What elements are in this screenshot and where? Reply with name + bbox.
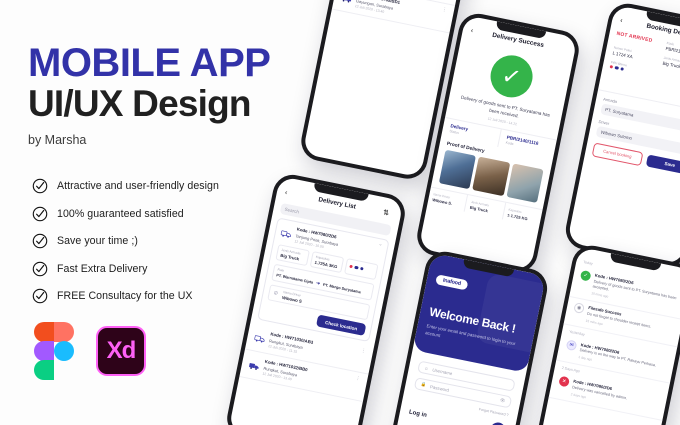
truck-icon [281, 224, 294, 235]
phone-mockup-notifications: Today ✓ Kode : HW7080/2D6 Delivery of go… [526, 242, 680, 425]
cancel-booking-button[interactable]: Cancel booking [592, 142, 643, 166]
proof-photo[interactable] [472, 157, 509, 197]
brand-logo: Inafood [435, 274, 468, 290]
feature-label: Save your time ;) [57, 235, 138, 247]
color-dots-box [344, 258, 379, 280]
phone-mockup-booking-detail: ‹ Booking Detail NOT ARRIVED Kode PBR/21… [562, 0, 680, 270]
check-circle-icon [32, 178, 48, 194]
chevron-left-icon[interactable]: ‹ [284, 189, 288, 196]
username-placeholder: Username [432, 367, 453, 376]
user-icon: ☺ [424, 365, 429, 371]
list-item: Save your time ;) [32, 233, 282, 249]
table-row[interactable]: Kode : HW76785/BD1 Gayungan, Surabaya 12… [332, 0, 455, 33]
page-title: MOBILE APP [28, 44, 288, 83]
vehicle-type-box: Jenis Armada Big Truck [275, 244, 310, 266]
check-circle-icon: ✓ [580, 270, 592, 282]
adobe-xd-icon: Xd [96, 326, 146, 376]
feature-label: Fast Extra Delivery [57, 263, 147, 275]
adobe-xd-label: Xd [107, 337, 136, 365]
phone-mockup-login: Inafood Welcome Back ! Enter your email … [379, 248, 550, 425]
lock-icon: 🔒 [420, 381, 427, 388]
chevron-left-icon[interactable]: ‹ [620, 17, 624, 24]
driver-cell: Nama Driver Wibowo S. [427, 188, 467, 212]
arrow-right-icon: ➜ [315, 280, 320, 287]
truck-icon [254, 329, 267, 340]
message-icon: ✉ [566, 339, 578, 351]
proof-photo[interactable] [506, 164, 543, 204]
page-subtitle: UI/UX Design [28, 85, 288, 124]
poster-canvas: MOBILE APP UI/UX Design by Marsha Attrac… [0, 0, 680, 425]
vehicle-cell: Jenis Armada Big Truck [464, 195, 505, 219]
chevron-down-icon[interactable]: ⌄ [378, 243, 383, 247]
capacity-box: Kapasitas 1.725A 3KG [310, 251, 345, 273]
poster-headline-block: MOBILE APP UI/UX Design by Marsha [28, 44, 288, 147]
chevron-left-icon[interactable]: ‹ [470, 27, 474, 34]
tool-logos: Xd [34, 322, 146, 380]
search-placeholder: Search [284, 207, 299, 215]
delivery-card[interactable]: Kode : HW7080/2D6 Tanjung Priok, Surabay… [257, 217, 389, 342]
feature-label: Attractive and user-friendly design [57, 180, 219, 192]
check-circle-icon [32, 206, 48, 222]
filter-icon[interactable]: ⇅ [382, 208, 389, 217]
feature-label: FREE Consultacy for the UX [57, 290, 193, 302]
proof-photo[interactable] [439, 150, 476, 190]
feature-label: 100% guaranteed satisfied [57, 208, 184, 220]
capacity-cell: Kapasitas ± 1.725 KG [501, 203, 542, 227]
eye-icon[interactable]: 👁 [499, 397, 506, 404]
cancel-icon: ✕ [558, 376, 570, 388]
list-item: FREE Consultacy for the UX [32, 288, 282, 304]
status-dot-blue [360, 267, 364, 271]
check-circle-icon [32, 261, 48, 277]
save-button[interactable]: Save [645, 154, 680, 175]
feature-list: Attractive and user-friendly design 100%… [32, 178, 282, 316]
status-dot-red [349, 265, 353, 269]
list-item: 100% guaranteed satisfied [32, 206, 282, 222]
login-submit-button[interactable]: › [489, 421, 507, 425]
camera-icon: ◉ [573, 302, 585, 314]
check-location-button[interactable]: Check location [316, 315, 366, 336]
more-icon[interactable]: ⋮ [355, 377, 361, 381]
login-label: Log in [408, 409, 427, 418]
list-item: Fast Extra Delivery [32, 261, 282, 277]
more-icon[interactable]: ⋮ [442, 8, 448, 12]
check-circle-icon [32, 233, 48, 249]
user-icon: ☺ [272, 290, 279, 297]
list-item: Attractive and user-friendly design [32, 178, 282, 194]
figma-icon [34, 322, 74, 380]
byline: by Marsha [28, 133, 288, 147]
truck-icon [249, 357, 262, 368]
more-icon[interactable]: ⋮ [360, 350, 366, 354]
status-dot-blue [355, 266, 359, 270]
check-circle-icon [32, 288, 48, 304]
